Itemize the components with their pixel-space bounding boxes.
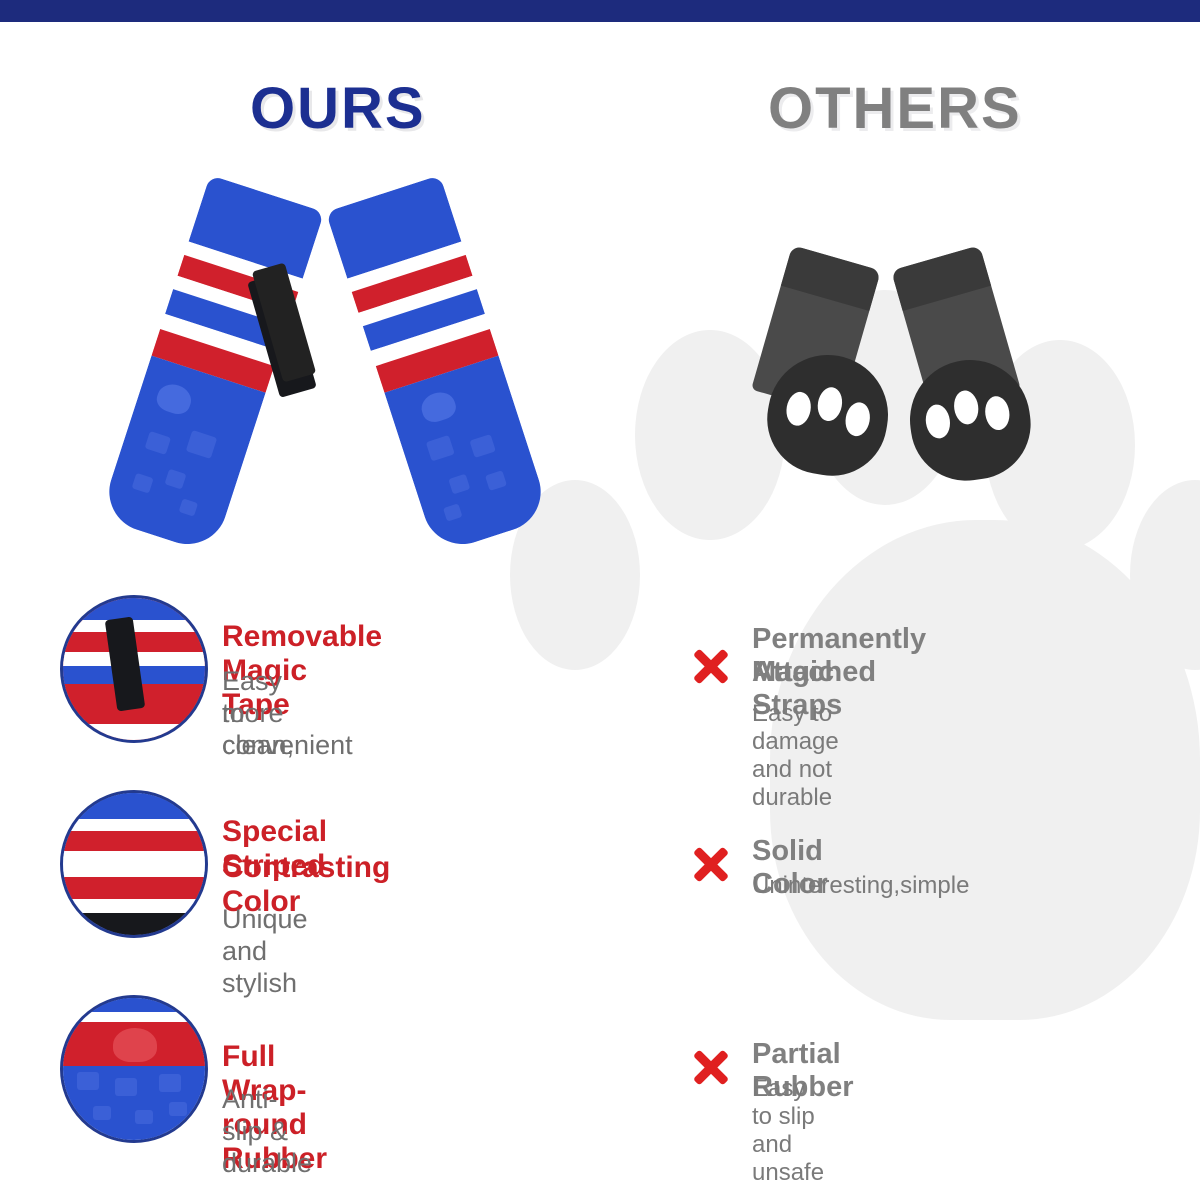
- page-title-ours: OURS: [250, 80, 426, 138]
- thumb-removable-magic-tape-icon: [60, 595, 208, 743]
- product-image-others: [760, 245, 1050, 485]
- red-x-icon-3: [690, 1046, 732, 1088]
- other-subtitle-1: Easy to damage and not durable: [752, 700, 839, 812]
- thumb-full-wrap-rubber-icon: [60, 995, 208, 1143]
- feature-subtitle-2-line1: Unique and stylish: [222, 903, 308, 999]
- red-x-icon-2: [690, 843, 732, 885]
- feature-subtitle-3-line1: Anti-slip & durable: [222, 1083, 312, 1179]
- thumb-special-striped-icon: [60, 790, 208, 938]
- other-subtitle-3: Easy to slip and unsafe: [752, 1075, 824, 1187]
- product-image-ours: [165, 170, 535, 570]
- other-subtitle-2: Uninteresting,simple: [752, 872, 969, 900]
- top-accent-bar: [0, 0, 1200, 22]
- feature-subtitle-1-line2: more convenient: [222, 697, 353, 761]
- red-x-icon-1: [690, 645, 732, 687]
- page-title-others: OTHERS: [768, 80, 1022, 138]
